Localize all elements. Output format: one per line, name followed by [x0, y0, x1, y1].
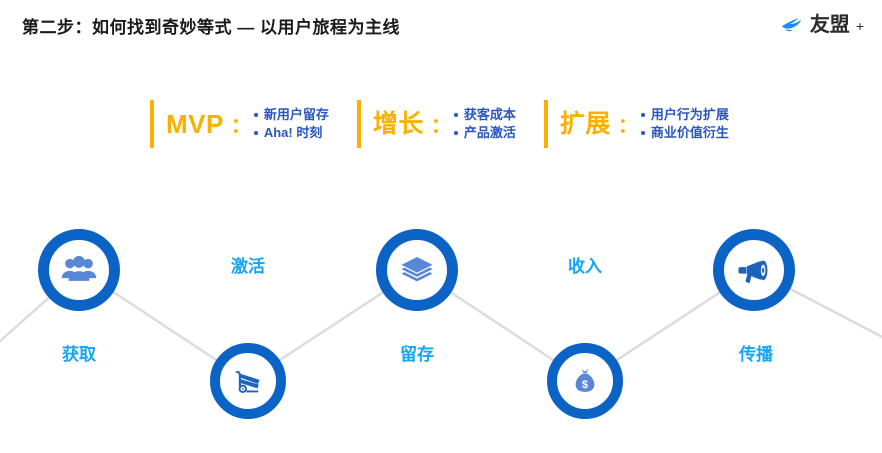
bullet-icon [254, 113, 258, 117]
stage-item: 用户行为扩展 [641, 107, 729, 123]
stage-group-expansion: 扩展 ： 用户行为扩展 商业价值衍生 [544, 100, 729, 148]
page-header: 第二步：如何找到奇妙等式 — 以用户旅程为主线 友盟 + [0, 0, 882, 56]
stage-item: 新用户留存 [254, 107, 329, 123]
megaphone-icon [735, 251, 773, 289]
stage-name-expansion: 扩展 [560, 112, 611, 137]
stage-item: 获客成本 [454, 107, 516, 123]
stage-item-label: 获客成本 [464, 107, 516, 123]
stage-item-label: 新用户留存 [264, 107, 329, 123]
stage-group-growth: 增长 ： 获客成本 产品激活 [357, 100, 516, 148]
svg-text:$: $ [582, 379, 588, 391]
stage-colon-expansion: ： [618, 109, 638, 138]
stage-item-label: 商业价值衍生 [651, 125, 729, 141]
stage-group-row: MVP ： 新用户留存 Aha! 时刻 增长 ： 获客成本 产品激活 [150, 100, 757, 148]
bullet-icon [254, 131, 258, 135]
users-group-icon [59, 250, 99, 290]
journey-label-acquisition: 获取 [38, 340, 120, 365]
stage-group-mvp: MVP ： 新用户留存 Aha! 时刻 [150, 100, 329, 148]
bullet-icon [641, 131, 645, 135]
brand-logo: 友盟 + [779, 8, 864, 37]
journey-label-referral: 传播 [713, 340, 799, 365]
stage-items-expansion: 用户行为扩展 商业价值衍生 [641, 107, 729, 142]
journey-node-acquisition[interactable] [38, 229, 120, 311]
bullet-icon [641, 113, 645, 117]
stage-items-mvp: 新用户留存 Aha! 时刻 [254, 107, 329, 142]
journey-label-revenue: 收入 [542, 252, 628, 277]
umeng-bird-icon [779, 10, 805, 36]
journey-label-activation: 激活 [205, 252, 291, 277]
journey-node-retention[interactable] [376, 229, 458, 311]
journey-node-activation[interactable] [210, 343, 286, 419]
page-title: 第二步：如何找到奇妙等式 — 以用户旅程为主线 [22, 13, 400, 38]
journey-label-retention: 留存 [376, 340, 458, 365]
journey-node-revenue[interactable]: $ [547, 343, 623, 419]
stage-name-mvp: MVP [166, 111, 224, 137]
stage-name-growth: 增长 [373, 112, 424, 137]
money-bag-icon: $ [568, 364, 602, 398]
stage-item: 商业价值衍生 [641, 125, 729, 141]
brand-name: 友盟 [810, 8, 850, 37]
stage-item-label: Aha! 时刻 [264, 125, 323, 141]
stage-colon-growth: ： [431, 109, 451, 138]
stage-item: Aha! 时刻 [254, 125, 329, 141]
stage-item-label: 产品激活 [464, 125, 516, 141]
bullet-icon [454, 131, 458, 135]
stage-item-label: 用户行为扩展 [651, 107, 729, 123]
stage-item: 产品激活 [454, 125, 516, 141]
hand-truck-icon [230, 363, 266, 399]
stage-colon-mvp: ： [231, 109, 251, 138]
user-journey-diagram: 获取 激活 留存 [0, 190, 882, 453]
journey-node-referral[interactable] [713, 229, 795, 311]
bullet-icon [454, 113, 458, 117]
brand-plus: + [856, 18, 864, 34]
stage-items-growth: 获客成本 产品激活 [454, 107, 516, 142]
layers-stack-icon [398, 251, 436, 289]
